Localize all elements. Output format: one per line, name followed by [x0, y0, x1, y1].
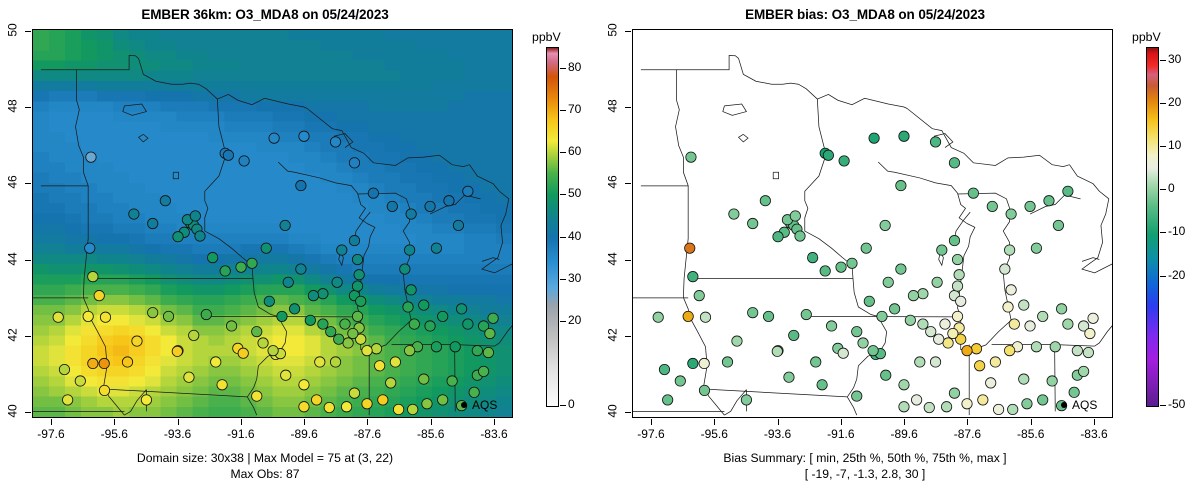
observation-point[interactable]: [760, 196, 770, 206]
map-boundary: [307, 108, 469, 166]
observation-point[interactable]: [283, 277, 293, 287]
observation-point[interactable]: [820, 266, 830, 276]
colorbar-tick-label: 70: [568, 102, 581, 116]
observation-point[interactable]: [1050, 342, 1060, 352]
observation-point[interactable]: [189, 330, 199, 340]
observation-point[interactable]: [899, 402, 909, 412]
observation-point[interactable]: [252, 391, 262, 401]
observation-point[interactable]: [1031, 243, 1041, 253]
colorbar-tick: [1160, 276, 1166, 277]
map-boundary: [123, 104, 147, 115]
observation-point[interactable]: [905, 315, 915, 325]
observation-point[interactable]: [478, 366, 488, 376]
bias-caption-line2: [ -19, -7, -1.3, 2.8, 30 ]: [600, 467, 1130, 481]
observation-point[interactable]: [952, 311, 962, 321]
observation-point[interactable]: [261, 243, 271, 253]
observation-point[interactable]: [195, 231, 205, 241]
observation-point[interactable]: [1038, 395, 1048, 405]
observation-point[interactable]: [217, 380, 227, 390]
map-boundary: [77, 55, 308, 108]
observation-point[interactable]: [971, 344, 981, 354]
observation-point[interactable]: [62, 395, 72, 405]
observation-point[interactable]: [404, 345, 414, 355]
observation-point[interactable]: [763, 311, 773, 321]
observation-point[interactable]: [374, 361, 384, 371]
observation-point[interactable]: [1038, 311, 1048, 321]
observation-point[interactable]: [236, 262, 246, 272]
observation-point[interactable]: [472, 345, 482, 355]
colorbar-tick-label: 50: [568, 186, 581, 200]
map-boundary: [954, 212, 970, 239]
observation-point[interactable]: [948, 328, 958, 338]
observation-point[interactable]: [173, 232, 183, 242]
observation-point[interactable]: [211, 357, 221, 367]
observation-point[interactable]: [408, 404, 418, 414]
bias-colorbar-gradient: [1146, 47, 1159, 407]
observation-point[interactable]: [869, 133, 879, 143]
model-colorbar-gradient: [546, 47, 559, 407]
observation-point[interactable]: [864, 296, 874, 306]
observation-point[interactable]: [926, 326, 936, 336]
observation-point[interactable]: [686, 152, 696, 162]
observation-point[interactable]: [343, 338, 353, 348]
observation-point[interactable]: [836, 262, 846, 272]
observation-point[interactable]: [956, 296, 966, 306]
observation-point[interactable]: [683, 311, 693, 321]
observation-point[interactable]: [148, 218, 158, 228]
observation-point[interactable]: [349, 388, 359, 398]
observation-point[interactable]: [930, 137, 940, 147]
observation-point[interactable]: [772, 346, 782, 356]
observation-point[interactable]: [86, 152, 96, 162]
observation-point[interactable]: [419, 374, 429, 384]
observation-point[interactable]: [1044, 196, 1054, 206]
observation-point[interactable]: [354, 270, 364, 280]
observation-point[interactable]: [252, 326, 262, 336]
observation-point[interactable]: [438, 395, 448, 405]
observation-point[interactable]: [425, 321, 435, 331]
observation-point[interactable]: [456, 304, 466, 314]
observation-point[interactable]: [1004, 245, 1014, 255]
observation-point[interactable]: [239, 156, 249, 166]
observation-point[interactable]: [880, 220, 890, 230]
observation-point[interactable]: [974, 361, 984, 371]
observation-point[interactable]: [315, 357, 325, 367]
observation-point[interactable]: [838, 348, 848, 358]
colorbar-tick-label: -20: [1168, 268, 1185, 282]
observation-point[interactable]: [207, 252, 217, 262]
colorbar-tick-label: 30: [568, 271, 581, 285]
observation-point[interactable]: [264, 296, 274, 306]
observation-point[interactable]: [463, 319, 473, 329]
observation-point[interactable]: [223, 150, 233, 160]
observation-point[interactable]: [281, 370, 291, 380]
x-axis-tick: [967, 419, 968, 425]
observation-point[interactable]: [201, 309, 211, 319]
observation-point[interactable]: [450, 342, 460, 352]
observation-point[interactable]: [371, 344, 381, 354]
observation-point[interactable]: [406, 285, 416, 295]
observation-point[interactable]: [795, 231, 805, 241]
observation-point[interactable]: [852, 391, 862, 401]
observation-point[interactable]: [968, 188, 978, 198]
observation-point[interactable]: [352, 281, 362, 291]
observation-point[interactable]: [896, 180, 906, 190]
observation-point[interactable]: [1019, 374, 1029, 384]
observation-point[interactable]: [337, 245, 347, 255]
x-axis-tick-label: -91.6: [811, 427, 871, 441]
observation-point[interactable]: [937, 245, 947, 255]
observation-point[interactable]: [932, 277, 942, 287]
observation-point[interactable]: [311, 395, 321, 405]
observation-point[interactable]: [1053, 220, 1063, 230]
observation-point[interactable]: [1025, 321, 1035, 331]
observation-point[interactable]: [296, 180, 306, 190]
observation-point[interactable]: [148, 307, 158, 317]
observation-point[interactable]: [941, 402, 951, 412]
observation-point[interactable]: [675, 376, 685, 386]
observation-point[interactable]: [789, 330, 799, 340]
observation-point[interactable]: [438, 311, 448, 321]
observation-point[interactable]: [220, 266, 230, 276]
observation-point[interactable]: [299, 131, 309, 141]
x-axis-tick-label: -97.6: [21, 427, 81, 441]
observation-point[interactable]: [444, 196, 454, 206]
observation-point[interactable]: [1063, 186, 1073, 196]
observation-point[interactable]: [986, 378, 996, 388]
observation-point[interactable]: [729, 209, 739, 219]
observation-point[interactable]: [823, 150, 833, 160]
observation-point[interactable]: [940, 319, 950, 329]
observation-point[interactable]: [431, 342, 441, 352]
x-axis-tick-label: -97.6: [621, 427, 681, 441]
observation-point[interactable]: [790, 211, 800, 221]
observation-point[interactable]: [908, 290, 918, 300]
y-axis-tick: [25, 412, 31, 413]
x-axis-tick: [114, 419, 115, 425]
observation-point[interactable]: [352, 254, 362, 264]
y-axis-tick: [625, 107, 631, 108]
observation-point[interactable]: [952, 254, 962, 264]
observation-point[interactable]: [334, 334, 344, 344]
x-axis-tick: [778, 419, 779, 425]
observation-point[interactable]: [129, 209, 139, 219]
observation-point[interactable]: [741, 395, 751, 405]
observation-point[interactable]: [1078, 366, 1088, 376]
map-boundary: [205, 99, 253, 278]
observation-point[interactable]: [1088, 313, 1098, 323]
figure-root: EMBER 36km: O3_MDA8 on 05/24/2023 AQS -9…: [0, 0, 1200, 502]
observation-point[interactable]: [883, 277, 893, 287]
observation-point[interactable]: [247, 258, 257, 268]
y-axis-tick-label: 42: [602, 328, 624, 342]
observation-point[interactable]: [299, 402, 309, 412]
colorbar-tick: [1160, 232, 1166, 233]
map-boundary: [907, 108, 1069, 166]
observation-point[interactable]: [1069, 387, 1079, 397]
observation-point[interactable]: [419, 300, 429, 310]
observation-point[interactable]: [463, 186, 473, 196]
observation-point[interactable]: [817, 380, 827, 390]
observation-point[interactable]: [368, 188, 378, 198]
observation-point[interactable]: [387, 201, 397, 211]
observation-point[interactable]: [1083, 347, 1093, 357]
observation-point[interactable]: [1009, 319, 1019, 329]
colorbar-tick: [560, 279, 566, 280]
observation-point[interactable]: [1056, 304, 1066, 314]
observation-point[interactable]: [88, 358, 98, 368]
observation-point[interactable]: [688, 358, 698, 368]
observation-point[interactable]: [238, 348, 248, 358]
colorbar-tick-label: 20: [568, 313, 581, 327]
observation-point[interactable]: [1004, 345, 1014, 355]
observation-point[interactable]: [386, 378, 396, 388]
x-axis-tick-label: -85.6: [1001, 427, 1061, 441]
observation-point[interactable]: [911, 395, 921, 405]
observation-point[interactable]: [1031, 342, 1041, 352]
observation-point[interactable]: [59, 364, 69, 374]
bias-plot-area[interactable]: [632, 29, 1113, 418]
observation-point[interactable]: [962, 399, 972, 409]
observation-point[interactable]: [330, 357, 340, 367]
bias-map-overlay: [633, 30, 1112, 417]
observation-point[interactable]: [326, 326, 336, 336]
observation-point[interactable]: [839, 156, 849, 166]
observation-point[interactable]: [341, 402, 351, 412]
observation-point[interactable]: [918, 319, 928, 329]
observation-point[interactable]: [453, 220, 463, 230]
y-axis-tick-label: 46: [602, 175, 624, 189]
observation-point[interactable]: [748, 307, 758, 317]
observation-point[interactable]: [132, 336, 142, 346]
observation-point[interactable]: [1025, 201, 1035, 211]
y-axis-tick-label: 50: [602, 23, 624, 37]
observation-point[interactable]: [280, 220, 290, 230]
observation-point[interactable]: [406, 209, 416, 219]
observation-point[interactable]: [340, 319, 350, 329]
observation-point[interactable]: [308, 290, 318, 300]
observation-point[interactable]: [987, 201, 997, 211]
observation-point[interactable]: [349, 235, 359, 245]
observation-point[interactable]: [662, 395, 672, 405]
observation-point[interactable]: [425, 201, 435, 211]
map-boundary: [139, 134, 148, 142]
observation-point[interactable]: [877, 311, 887, 321]
model-plot-area[interactable]: [32, 29, 513, 418]
observation-point[interactable]: [83, 311, 93, 321]
observation-point[interactable]: [277, 311, 287, 321]
observation-point[interactable]: [409, 319, 419, 329]
observation-point[interactable]: [858, 338, 868, 348]
observation-point[interactable]: [934, 334, 944, 344]
observation-point[interactable]: [318, 289, 328, 299]
observation-point[interactable]: [949, 388, 959, 398]
x-axis-tick: [431, 419, 432, 425]
observation-point[interactable]: [99, 385, 109, 395]
observation-point[interactable]: [943, 338, 953, 348]
observation-point[interactable]: [1003, 302, 1013, 312]
observation-point[interactable]: [899, 131, 909, 141]
panel-model: EMBER 36km: O3_MDA8 on 05/24/2023 AQS -9…: [0, 0, 600, 502]
observation-point[interactable]: [653, 312, 663, 322]
colorbar-tick: [560, 68, 566, 69]
observation-point[interactable]: [685, 243, 695, 253]
observation-point[interactable]: [190, 211, 200, 221]
observation-point[interactable]: [163, 311, 173, 321]
observation-point[interactable]: [1008, 404, 1018, 414]
observation-point[interactable]: [852, 326, 862, 336]
x-axis-tick: [714, 419, 715, 425]
observation-point[interactable]: [348, 328, 358, 338]
observation-point[interactable]: [1019, 300, 1029, 310]
observation-point[interactable]: [94, 290, 104, 300]
y-axis-tick-label: 40: [602, 404, 624, 418]
observation-point[interactable]: [924, 402, 934, 412]
colorbar-tick: [560, 194, 566, 195]
observation-point[interactable]: [784, 372, 794, 382]
observation-point[interactable]: [773, 232, 783, 242]
observation-point[interactable]: [962, 345, 972, 355]
observation-point[interactable]: [949, 158, 959, 168]
observation-point[interactable]: [404, 245, 414, 255]
observation-point[interactable]: [269, 133, 279, 143]
y-axis-tick: [25, 336, 31, 337]
observation-point[interactable]: [172, 346, 182, 356]
observation-point[interactable]: [1047, 376, 1057, 386]
observation-point[interactable]: [296, 264, 306, 274]
observation-point[interactable]: [485, 328, 495, 338]
colorbar-tick-label: 10: [1168, 138, 1181, 152]
x-axis-tick-label: -91.6: [211, 427, 271, 441]
observation-point[interactable]: [1085, 328, 1095, 338]
observation-point[interactable]: [881, 370, 891, 380]
observation-point[interactable]: [990, 357, 1000, 367]
observation-point[interactable]: [699, 358, 709, 368]
observation-point[interactable]: [289, 304, 299, 314]
observation-point[interactable]: [949, 235, 959, 245]
observation-point[interactable]: [141, 395, 151, 405]
observation-point[interactable]: [952, 281, 962, 291]
observation-point[interactable]: [362, 345, 372, 355]
x-axis-tick-label: -95.6: [84, 427, 144, 441]
observation-point[interactable]: [469, 387, 479, 397]
colorbar-tick: [1160, 60, 1166, 61]
observation-point[interactable]: [1063, 319, 1073, 329]
observation-point[interactable]: [868, 345, 878, 355]
observation-point[interactable]: [324, 402, 334, 412]
observation-point[interactable]: [258, 338, 268, 348]
y-axis-tick: [625, 31, 631, 32]
observation-point[interactable]: [53, 312, 63, 322]
x-axis-tick: [241, 419, 242, 425]
observation-point[interactable]: [122, 357, 132, 367]
observation-point[interactable]: [915, 357, 925, 367]
observation-point[interactable]: [993, 404, 1003, 414]
observation-point[interactable]: [332, 277, 342, 287]
observation-point[interactable]: [896, 264, 906, 274]
observation-point[interactable]: [954, 270, 964, 280]
observation-point[interactable]: [659, 364, 669, 374]
observation-point[interactable]: [305, 315, 315, 325]
legend-aqs-label: AQS: [1072, 398, 1097, 412]
observation-point[interactable]: [184, 372, 194, 382]
panel-bias-title: EMBER bias: O3_MDA8 on 05/24/2023: [600, 7, 1130, 22]
observation-point[interactable]: [1022, 399, 1032, 409]
observation-point[interactable]: [330, 137, 340, 147]
observation-point[interactable]: [826, 321, 836, 331]
y-axis-tick: [25, 260, 31, 261]
observation-point[interactable]: [1006, 285, 1016, 295]
observation-point[interactable]: [700, 312, 710, 322]
colorbar-tick-label: 0: [568, 397, 575, 411]
observation-point[interactable]: [88, 271, 98, 281]
observation-point[interactable]: [400, 264, 410, 274]
observation-point[interactable]: [1006, 209, 1016, 219]
observation-point[interactable]: [349, 158, 359, 168]
colorbar-tick-label: 60: [568, 144, 581, 158]
observation-point[interactable]: [801, 309, 811, 319]
observation-point[interactable]: [1072, 345, 1082, 355]
observation-point[interactable]: [422, 399, 432, 409]
observation-point[interactable]: [861, 243, 871, 253]
observation-point[interactable]: [378, 395, 388, 405]
y-axis-tick-label: 48: [2, 99, 24, 113]
observation-point[interactable]: [160, 196, 170, 206]
panel-model-title: EMBER 36km: O3_MDA8 on 05/24/2023: [0, 7, 530, 22]
observation-point[interactable]: [75, 376, 85, 386]
observation-point[interactable]: [318, 319, 328, 329]
observation-point[interactable]: [85, 243, 95, 253]
observation-point[interactable]: [356, 296, 366, 306]
observation-point[interactable]: [899, 380, 909, 390]
observation-point[interactable]: [447, 376, 457, 386]
observation-point[interactable]: [847, 258, 857, 268]
observation-point[interactable]: [390, 357, 400, 367]
observation-point[interactable]: [100, 312, 110, 322]
observation-point[interactable]: [352, 311, 362, 321]
observation-point[interactable]: [889, 304, 899, 314]
observation-point[interactable]: [978, 395, 988, 405]
observation-point[interactable]: [403, 302, 413, 312]
colorbar-tick-label: -10: [1168, 224, 1185, 238]
observation-point[interactable]: [930, 357, 940, 367]
observation-point[interactable]: [1000, 264, 1010, 274]
observation-point[interactable]: [488, 313, 498, 323]
observation-point[interactable]: [918, 289, 928, 299]
observation-point[interactable]: [483, 347, 493, 357]
observation-point[interactable]: [688, 271, 698, 281]
observation-point[interactable]: [362, 399, 372, 409]
observation-point[interactable]: [99, 358, 109, 368]
colorbar-tick-label: 30: [1168, 52, 1181, 66]
observation-point[interactable]: [811, 357, 821, 367]
observation-point[interactable]: [694, 290, 704, 300]
y-axis-tick-label: 40: [2, 404, 24, 418]
observation-point[interactable]: [393, 404, 403, 414]
observation-point[interactable]: [722, 357, 732, 367]
observation-point[interactable]: [748, 218, 758, 228]
observation-point[interactable]: [226, 321, 236, 331]
observation-point[interactable]: [699, 385, 709, 395]
observation-point[interactable]: [807, 252, 817, 262]
observation-point[interactable]: [299, 380, 309, 390]
colorbar-tick: [1160, 103, 1166, 104]
aqs-dot-icon: [1061, 402, 1067, 408]
observation-point[interactable]: [431, 243, 441, 253]
observation-point[interactable]: [732, 336, 742, 346]
observation-point[interactable]: [268, 345, 278, 355]
map-boundary: [1030, 195, 1080, 214]
